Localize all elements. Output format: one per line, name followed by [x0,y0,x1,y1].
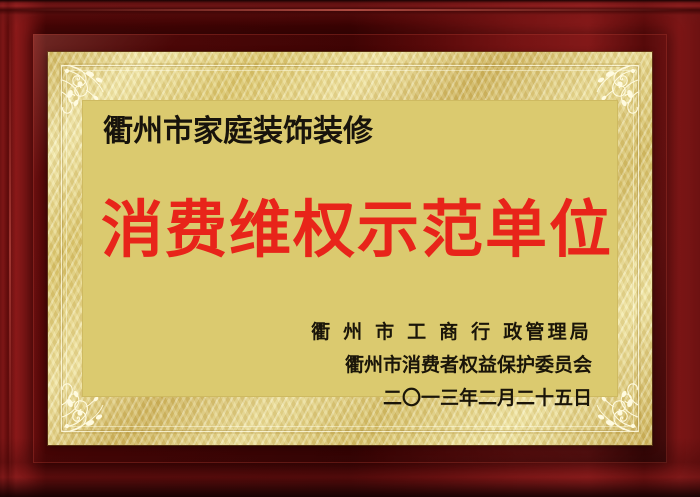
signature-line-issuer-1: 衢 州 市 工 商 行 政管理局 [311,316,592,349]
award-plaque: 衢州市家庭装饰装修 消费维权示范单位 衢 州 市 工 商 行 政管理局 衢州市消… [0,0,700,497]
plaque-subtitle: 衢州市家庭装饰装修 [103,116,373,148]
signature-line-date: 二〇一三年二月二十五日 [311,382,592,415]
signature-line-issuer-2: 衢州市消费者权益保护委员会 [311,349,592,382]
plaque-headline: 消费维权示范单位 [101,196,601,264]
signature-block: 衢 州 市 工 商 行 政管理局 衢州市消费者权益保护委员会 二〇一三年二月二十… [311,316,592,415]
